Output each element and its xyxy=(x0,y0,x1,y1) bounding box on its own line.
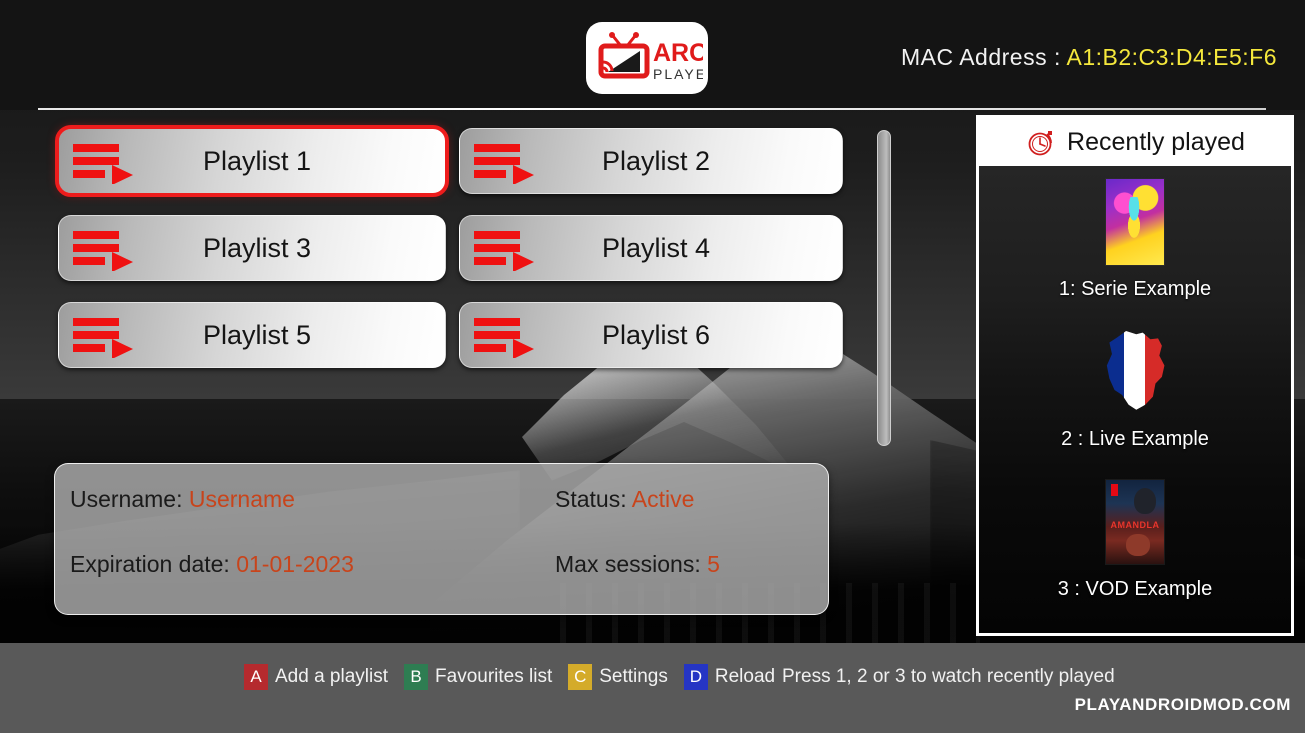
playlist-row: Playlist 1 Playlist 2 xyxy=(58,128,848,194)
recently-played-item-label: 1: Serie Example xyxy=(1059,278,1211,301)
recently-played-thumbnail: AMANDLA xyxy=(1105,474,1165,570)
playlist-button[interactable]: Playlist 5 xyxy=(58,302,446,368)
playlist-button[interactable]: Playlist 1 xyxy=(58,128,446,194)
app-screen: ARC PLAYER MAC Address : A1:B2:C3:D4:E5:… xyxy=(0,0,1305,733)
press-number-hint: Press 1, 2 or 3 to watch recently played xyxy=(782,666,1115,688)
playlist-grid: Playlist 1 Playlist 2 Playlist 3 Playlis… xyxy=(58,128,848,448)
playlist-play-icon xyxy=(472,142,544,184)
footer-hint-favourites-list[interactable]: B Favourites list xyxy=(404,664,552,690)
recently-played-thumbnail xyxy=(1105,174,1165,270)
username-label: Username: xyxy=(70,486,182,512)
france-flag-map-thumbnail xyxy=(1103,331,1167,413)
mac-address-label: MAC Address : xyxy=(901,44,1061,70)
playlist-play-icon xyxy=(472,316,544,358)
playlist-button[interactable]: Playlist 4 xyxy=(459,215,843,281)
expiration-label: Expiration date: xyxy=(70,551,230,577)
playlist-play-icon xyxy=(71,229,143,271)
recently-played-list: 1: Serie Example 2 : Live Example AMANDL… xyxy=(979,166,1291,633)
footer-hint-label: Settings xyxy=(599,666,668,688)
serie-poster-thumbnail xyxy=(1105,178,1165,266)
max-sessions-label: Max sessions: xyxy=(555,551,701,577)
playlist-row: Playlist 3 Playlist 4 xyxy=(58,215,848,281)
playlist-button[interactable]: Playlist 3 xyxy=(58,215,446,281)
max-sessions-value: 5 xyxy=(707,551,720,577)
account-info-panel: Username: Username Status: Active Expira… xyxy=(54,463,829,615)
app-header: ARC PLAYER MAC Address : A1:B2:C3:D4:E5:… xyxy=(0,0,1305,110)
recently-played-header: Recently played xyxy=(979,118,1291,166)
username-value: Username xyxy=(189,486,295,512)
site-watermark: PLAYANDROIDMOD.COM xyxy=(1075,695,1291,715)
expiration-value: 01-01-2023 xyxy=(236,551,354,577)
status-label: Status: xyxy=(555,486,627,512)
playlist-play-icon xyxy=(71,142,143,184)
max-sessions-row: Max sessions: 5 xyxy=(555,551,808,578)
key-badge: B xyxy=(404,664,428,690)
footer-hint-label: Add a playlist xyxy=(275,666,388,688)
recently-played-title: Recently played xyxy=(1067,128,1245,157)
mac-address-value: A1:B2:C3:D4:E5:F6 xyxy=(1067,44,1278,70)
recently-played-item-label: 2 : Live Example xyxy=(1061,428,1209,451)
key-badge: D xyxy=(684,664,708,690)
svg-text:ARC: ARC xyxy=(653,39,703,67)
key-badge: A xyxy=(244,664,268,690)
scrollbar-thumb[interactable] xyxy=(877,130,891,446)
netflix-logo-icon xyxy=(1111,484,1118,496)
vod-poster-title: AMANDLA xyxy=(1106,520,1164,530)
footer-key-hints: A Add a playlistB Favourites listC Setti… xyxy=(244,664,775,690)
header-divider xyxy=(38,108,1266,110)
playlist-play-icon xyxy=(472,229,544,271)
playlist-button[interactable]: Playlist 2 xyxy=(459,128,843,194)
footer-hint-label: Reload xyxy=(715,666,775,688)
mac-address-block: MAC Address : A1:B2:C3:D4:E5:F6 xyxy=(901,44,1277,71)
recently-played-item[interactable]: 1: Serie Example xyxy=(979,174,1291,324)
username-row: Username: Username xyxy=(70,486,555,513)
expiration-row: Expiration date: 01-01-2023 xyxy=(70,551,555,578)
footer-hint-add-a-playlist[interactable]: A Add a playlist xyxy=(244,664,388,690)
stopwatch-icon xyxy=(1025,126,1057,158)
recently-played-item[interactable]: AMANDLA 3 : VOD Example xyxy=(979,474,1291,624)
recently-played-item[interactable]: 2 : Live Example xyxy=(979,324,1291,474)
playlist-play-icon xyxy=(71,316,143,358)
playlist-button[interactable]: Playlist 6 xyxy=(459,302,843,368)
recently-played-panel: Recently played 1: Serie Example 2 : Liv… xyxy=(976,115,1294,636)
vod-poster-thumbnail: AMANDLA xyxy=(1105,479,1165,565)
svg-text:PLAYER: PLAYER xyxy=(653,66,703,82)
arc-player-logo: ARC PLAYER xyxy=(586,22,708,94)
playlist-row: Playlist 5 Playlist 6 xyxy=(58,302,848,368)
recently-played-item-label: 3 : VOD Example xyxy=(1058,578,1213,601)
footer-hint-label: Favourites list xyxy=(435,666,552,688)
footer-hint-settings[interactable]: C Settings xyxy=(568,664,668,690)
arc-player-logo-icon: ARC PLAYER xyxy=(591,29,703,87)
recently-played-thumbnail xyxy=(1103,324,1167,420)
status-row: Status: Active xyxy=(555,486,808,513)
footer-hint-reload[interactable]: D Reload xyxy=(684,664,775,690)
key-badge: C xyxy=(568,664,592,690)
status-value: Active xyxy=(632,486,695,512)
